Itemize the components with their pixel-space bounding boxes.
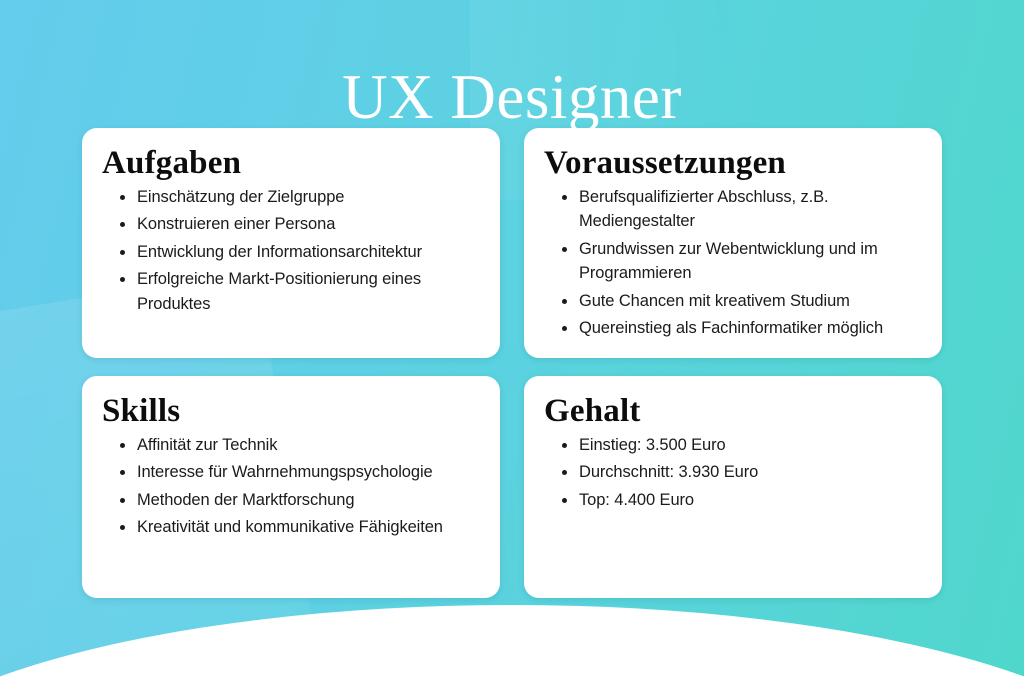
card-list: Einschätzung der Zielgruppe Konstruieren… <box>102 185 480 316</box>
card-gehalt: Gehalt Einstieg: 3.500 Euro Durchschnitt… <box>524 376 942 598</box>
logo-name-light: freelancer <box>441 622 568 655</box>
card-title: Skills <box>102 392 480 431</box>
list-item: Kreativität und kommunikative Fähigkeite… <box>116 515 480 539</box>
card-voraussetzungen: Voraussetzungen Berufsqualifizierter Abs… <box>524 128 942 358</box>
page-title: UX Designer <box>0 62 1024 133</box>
card-list: Einstieg: 3.500 Euro Durchschnitt: 3.930… <box>544 433 922 512</box>
list-item: Konstruieren einer Persona <box>116 212 480 236</box>
list-item: Gute Chancen mit kreativem Studium <box>558 289 922 313</box>
card-skills: Skills Affinität zur Technik Interesse f… <box>82 376 500 598</box>
list-item: Entwicklung der Informationsarchitektur <box>116 240 480 264</box>
list-item: Interesse für Wahrnehmungspsychologie <box>116 460 480 484</box>
card-title: Gehalt <box>544 392 922 431</box>
list-item: Durchschnitt: 3.930 Euro <box>558 460 922 484</box>
card-list: Affinität zur Technik Interesse für Wahr… <box>102 433 480 540</box>
card-grid: Aufgaben Einschätzung der Zielgruppe Kon… <box>82 128 942 598</box>
list-item: Methoden der Marktforschung <box>116 488 480 512</box>
list-item: Top: 4.400 Euro <box>558 488 922 512</box>
card-title: Voraussetzungen <box>544 144 922 183</box>
card-title: Aufgaben <box>102 144 480 183</box>
freelancermap-lens-icon <box>396 620 433 657</box>
list-item: Berufsqualifizierter Abschluss, z.B. Med… <box>558 185 922 234</box>
freelancermap-logo: freelancermap <box>0 620 1024 657</box>
card-list: Berufsqualifizierter Abschluss, z.B. Med… <box>544 185 922 340</box>
list-item: Grundwissen zur Webentwicklung und im Pr… <box>558 237 922 286</box>
list-item: Einstieg: 3.500 Euro <box>558 433 922 457</box>
list-item: Affinität zur Technik <box>116 433 480 457</box>
card-aufgaben: Aufgaben Einschätzung der Zielgruppe Kon… <box>82 128 500 358</box>
list-item: Erfolgreiche Markt-Positionierung eines … <box>116 267 480 316</box>
logo-name-bold: map <box>568 622 628 655</box>
infographic-poster: UX Designer Aufgaben Einschätzung der Zi… <box>0 0 1024 683</box>
list-item: Einschätzung der Zielgruppe <box>116 185 480 209</box>
list-item: Quereinstieg als Fachinformatiker möglic… <box>558 316 922 340</box>
logo-wordmark: freelancermap <box>441 624 628 654</box>
